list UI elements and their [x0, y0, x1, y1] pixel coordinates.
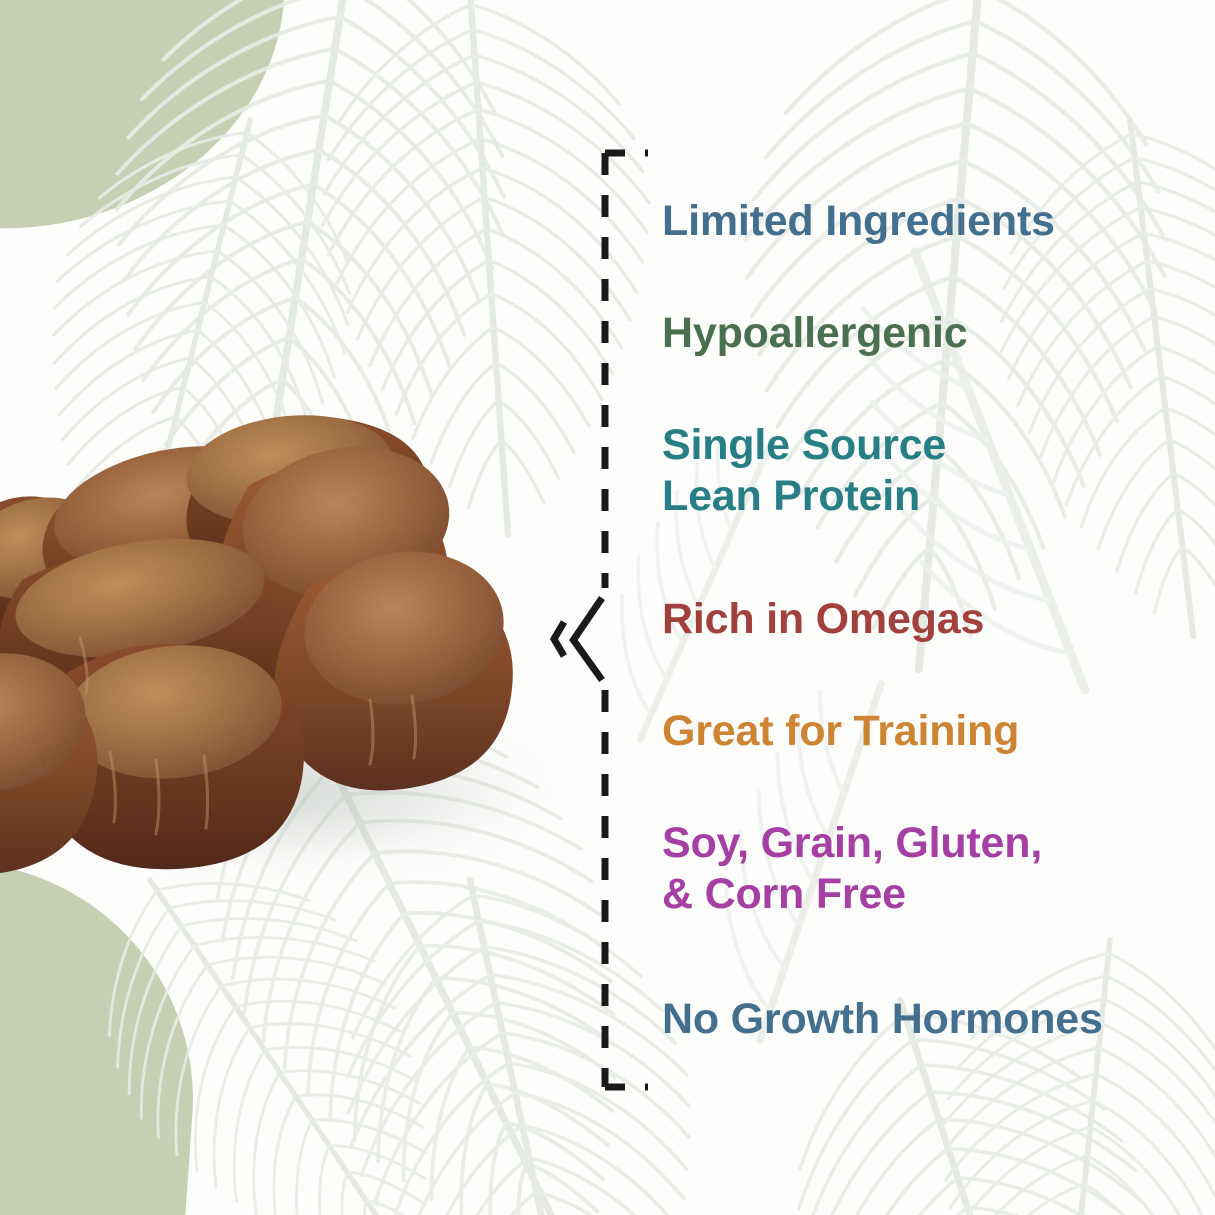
- benefit-item-great-for-training: Great for Training: [662, 706, 1019, 757]
- green-blob-top-left: [0, 0, 308, 259]
- benefit-item-no-growth-hormones: No Growth Hormones: [662, 994, 1103, 1045]
- benefit-item-soy-grain-gluten-corn-free: Soy, Grain, Gluten, & Corn Free: [662, 818, 1042, 919]
- sliced-dog-treats-photo: [0, 400, 580, 880]
- dashed-bracket: [520, 120, 680, 1120]
- benefits-list: Limited Ingredients Hypoallergenic Singl…: [662, 150, 1182, 1090]
- green-blob-bottom-left: [0, 843, 209, 1215]
- infographic-canvas: Limited Ingredients Hypoallergenic Singl…: [0, 0, 1215, 1215]
- benefit-item-single-source-lean-protein: Single Source Lean Protein: [662, 420, 946, 521]
- benefit-item-limited-ingredients: Limited Ingredients: [662, 196, 1055, 247]
- benefit-item-hypoallergenic: Hypoallergenic: [662, 308, 967, 359]
- benefit-item-rich-in-omegas: Rich in Omegas: [662, 594, 984, 645]
